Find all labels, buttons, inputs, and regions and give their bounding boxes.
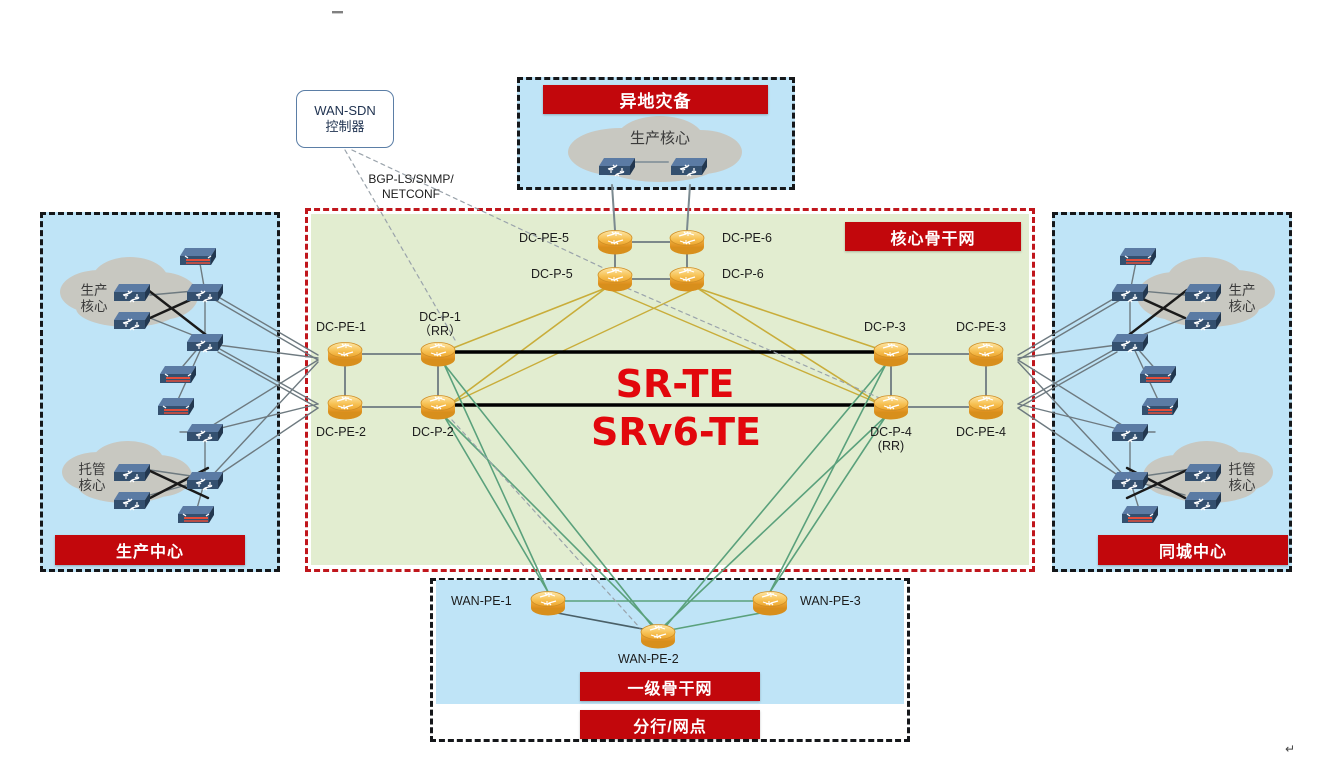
cloud-label-left-hosting: 托管 核心 bbox=[66, 462, 118, 493]
controller-title: WAN-SDN bbox=[314, 103, 376, 119]
protocol-annotation: BGP-LS/SNMP/ NETCONF bbox=[346, 172, 476, 202]
switch-right-agg-4[interactable] bbox=[1112, 472, 1148, 490]
switch-right-host-2[interactable] bbox=[1185, 492, 1221, 510]
label-dc-p-6: DC-P-6 bbox=[722, 267, 764, 281]
router-wan-pe-2[interactable] bbox=[641, 625, 675, 649]
srte-label: SR-TE bbox=[560, 362, 790, 406]
zone-label-production-center: 生产中心 bbox=[55, 535, 245, 565]
router-wan-pe-1[interactable] bbox=[531, 592, 565, 616]
label-wan-pe-2: WAN-PE-2 bbox=[618, 652, 679, 666]
cloud-right-prod-line1: 生产 bbox=[1216, 283, 1268, 299]
firewall-left-1[interactable] bbox=[180, 248, 216, 265]
router-wan-pe-3[interactable] bbox=[753, 592, 787, 616]
label-dc-p-4-rr: (RR) bbox=[856, 439, 926, 453]
label-wan-pe-1: WAN-PE-1 bbox=[451, 594, 512, 608]
firewall-right-1[interactable] bbox=[1120, 248, 1156, 265]
cloud-left-host-line2: 核心 bbox=[66, 478, 118, 494]
label-dc-pe-1: DC-PE-1 bbox=[316, 320, 366, 334]
label-dc-p-3: DC-P-3 bbox=[864, 320, 906, 334]
cloud-right-host-line2: 核心 bbox=[1216, 478, 1268, 494]
switch-left-agg-3[interactable] bbox=[187, 424, 223, 442]
cloud-right-host-line1: 托管 bbox=[1216, 462, 1268, 478]
router-dc-p-5[interactable] bbox=[598, 268, 632, 292]
router-dc-p-4[interactable] bbox=[874, 396, 908, 420]
switch-left-host-1[interactable] bbox=[114, 464, 150, 482]
switch-right-agg-2[interactable] bbox=[1112, 334, 1148, 352]
zone-label-disaster-recovery: 异地灾备 bbox=[543, 85, 768, 114]
protocol-line-1: BGP-LS/SNMP/ bbox=[346, 172, 476, 187]
cloud-label-right-production: 生产 核心 bbox=[1216, 283, 1268, 314]
router-dc-p-2[interactable] bbox=[421, 396, 455, 420]
firewall-right-4[interactable] bbox=[1122, 506, 1158, 523]
router-dc-p-1[interactable] bbox=[421, 343, 455, 367]
switch-right-agg-3[interactable] bbox=[1112, 424, 1148, 442]
network-diagram-canvas: 异地灾备 核心骨干网 生产中心 同城中心 一级骨干网 分行/网点 WAN-SDN… bbox=[0, 0, 1338, 783]
label-dc-p-4-name: DC-P-4 bbox=[856, 425, 926, 439]
switch-left-agg-4[interactable] bbox=[187, 472, 223, 490]
cloud-right-prod-line2: 核心 bbox=[1216, 299, 1268, 315]
cloud-left-prod-line1: 生产 bbox=[68, 283, 120, 299]
switch-left-host-2[interactable] bbox=[114, 492, 150, 510]
label-dc-p-1-rr: （RR） bbox=[405, 324, 475, 338]
label-dc-pe-4: DC-PE-4 bbox=[956, 425, 1006, 439]
cloud-left-prod-line2: 核心 bbox=[68, 299, 120, 315]
cloud-label-left-production: 生产 核心 bbox=[68, 283, 120, 314]
label-dc-pe-3: DC-PE-3 bbox=[956, 320, 1006, 334]
firewall-left-3[interactable] bbox=[158, 398, 194, 415]
router-dc-pe-5[interactable] bbox=[598, 231, 632, 255]
cloud-label-right-hosting: 托管 核心 bbox=[1216, 462, 1268, 493]
switch-left-agg-2[interactable] bbox=[187, 334, 223, 352]
cloud-left-host-line1: 托管 bbox=[66, 462, 118, 478]
router-dc-pe-3[interactable] bbox=[969, 343, 1003, 367]
zone-label-core-backbone: 核心骨干网 bbox=[845, 222, 1021, 251]
router-dc-pe-1[interactable] bbox=[328, 343, 362, 367]
firewall-right-3[interactable] bbox=[1142, 398, 1178, 415]
scan-artifact-mark bbox=[330, 8, 350, 22]
switch-left-agg-1[interactable] bbox=[187, 284, 223, 302]
switch-left-prod-2[interactable] bbox=[114, 312, 150, 330]
label-dc-p-4: DC-P-4 (RR) bbox=[856, 425, 926, 454]
switch-right-prod-2[interactable] bbox=[1185, 312, 1221, 330]
label-dc-p-1-name: DC-P-1 bbox=[405, 310, 475, 324]
label-dc-p-1: DC-P-1 （RR） bbox=[405, 310, 475, 339]
router-dc-pe-2[interactable] bbox=[328, 396, 362, 420]
cloud-label-dr-core: 生产核心 bbox=[610, 130, 710, 147]
switch-dr-core-1[interactable] bbox=[599, 158, 635, 176]
label-dc-pe-2: DC-PE-2 bbox=[316, 425, 366, 439]
zone-label-same-city-center: 同城中心 bbox=[1098, 535, 1288, 565]
srv6te-label: SRv6-TE bbox=[545, 410, 807, 454]
firewall-left-2[interactable] bbox=[160, 366, 196, 383]
firewall-left-4[interactable] bbox=[178, 506, 214, 523]
router-dc-pe-6[interactable] bbox=[670, 231, 704, 255]
zone-label-branch: 分行/网点 bbox=[580, 710, 760, 739]
label-wan-pe-3: WAN-PE-3 bbox=[800, 594, 861, 608]
router-dc-p-3[interactable] bbox=[874, 343, 908, 367]
controller-subtitle: 控制器 bbox=[325, 119, 364, 135]
router-dc-p-6[interactable] bbox=[670, 268, 704, 292]
trailing-paragraph-mark: ↵ bbox=[1285, 742, 1295, 756]
label-dc-pe-6: DC-PE-6 bbox=[722, 231, 772, 245]
zone-label-wan-backbone: 一级骨干网 bbox=[580, 672, 760, 701]
firewall-right-2[interactable] bbox=[1140, 366, 1176, 383]
protocol-line-2: NETCONF bbox=[346, 187, 476, 202]
switch-right-agg-1[interactable] bbox=[1112, 284, 1148, 302]
label-dc-pe-5: DC-PE-5 bbox=[519, 231, 569, 245]
router-dc-pe-4[interactable] bbox=[969, 396, 1003, 420]
label-dc-p-2: DC-P-2 bbox=[412, 425, 454, 439]
label-dc-p-5: DC-P-5 bbox=[531, 267, 573, 281]
wan-sdn-controller[interactable]: WAN-SDN 控制器 bbox=[296, 90, 394, 148]
switch-dr-core-2[interactable] bbox=[671, 158, 707, 176]
